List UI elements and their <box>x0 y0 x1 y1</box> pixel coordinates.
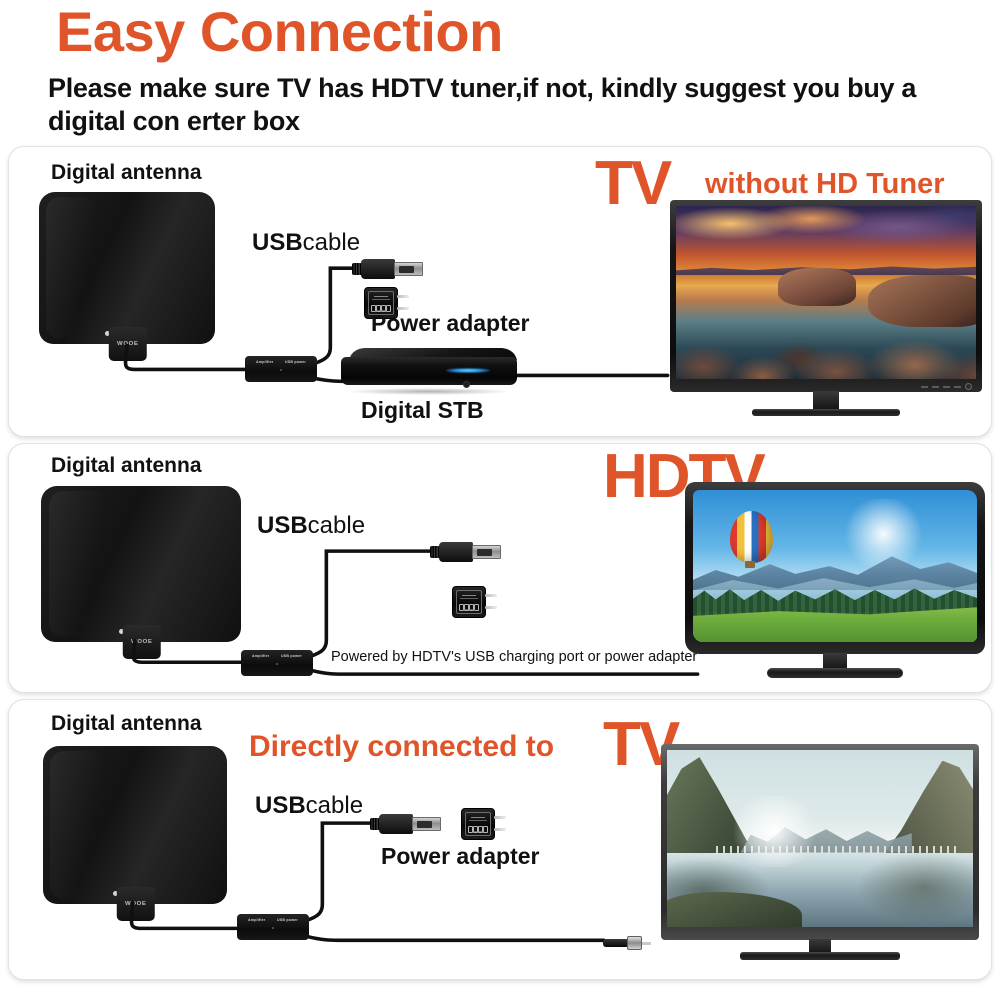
tv-stand-base <box>752 409 900 416</box>
usb-cable-label-1: USBcable <box>252 229 360 257</box>
antenna-brand-label: WOOE <box>117 341 138 346</box>
header: Easy Connection Please make sure TV has … <box>0 0 1000 142</box>
adapter-rating-label <box>465 812 491 836</box>
usb-plug-grip <box>379 814 413 834</box>
tv-screen <box>667 750 973 927</box>
digital-antenna-3: WOOE <box>43 746 227 904</box>
adapter-prong-top <box>494 816 506 819</box>
tv-screen <box>693 490 977 642</box>
antenna-label-1: Digital antenna <box>51 161 202 185</box>
signal-amplifier-2: Amplifier USB power <box>241 650 313 676</box>
usb-cable-label-bold: USB <box>252 229 303 256</box>
adapter-prong-bottom <box>485 606 497 609</box>
hot-air-balloon <box>730 511 773 563</box>
antenna-brand-label: WOOE <box>125 901 146 906</box>
power-source-note-2: Powered by HDTV's USB charging port or p… <box>331 649 697 665</box>
headline-rest-1: without HD Tuner <box>705 169 944 199</box>
coax-connector-3 <box>603 936 651 950</box>
stb-led-indicator <box>446 368 490 373</box>
usb-cable-label-thin: cable <box>303 229 360 256</box>
usb-plug-contact <box>412 817 441 831</box>
power-adapter-3 <box>461 808 505 840</box>
signal-amplifier-3: Amplifier USB power <box>237 914 309 940</box>
amp-label-left: Amplifier <box>256 360 273 364</box>
amp-indicator <box>280 369 282 371</box>
antenna-sheen <box>49 491 109 638</box>
adapter-rating-label <box>456 590 482 614</box>
usb-plug-grip <box>361 259 395 279</box>
usb-cable-label-thin: cable <box>306 792 363 819</box>
power-adapter-label-1: Power adapter <box>371 310 530 337</box>
diagram-panel-hdtv: Digital antenna WOOE USBcable Amplifier … <box>8 443 992 693</box>
amp-label-left: Amplifier <box>248 918 265 922</box>
antenna-brand-badge: WOOE <box>117 887 155 921</box>
usb-plug-1 <box>361 259 423 279</box>
coax-nut <box>627 936 642 950</box>
tv-control-row <box>921 384 972 389</box>
amp-label-left: Amplifier <box>252 654 269 658</box>
usb-plug-contact <box>472 545 501 559</box>
digital-stb-1 <box>341 344 517 390</box>
tv-stand-base <box>767 668 903 678</box>
digital-antenna-2: WOOE <box>41 486 241 642</box>
usb-cable-label-3: USBcable <box>255 792 363 820</box>
amp-indicator <box>272 927 274 929</box>
antenna-label-3: Digital antenna <box>51 712 202 736</box>
usb-plug-2 <box>439 542 501 562</box>
tv-screen-image-hot-air-balloon-mountains <box>693 490 977 642</box>
antenna-label-2: Digital antenna <box>51 454 202 478</box>
tv-hdtv-curved <box>685 482 985 654</box>
coax-pin <box>642 942 651 945</box>
adapter-body <box>461 808 495 840</box>
amp-label-right: USB power <box>281 654 302 658</box>
adapter-prong-bottom <box>494 828 506 831</box>
diagram-panel-direct-connection: Digital antenna WOOE Directly connected … <box>8 699 992 980</box>
usb-plug-contact <box>394 262 423 276</box>
adapter-prong-top <box>485 594 497 597</box>
antenna-brand-label: WOOE <box>131 639 152 644</box>
usb-cable-label-bold: USB <box>257 512 308 539</box>
antenna-brand-badge: WOOE <box>123 625 161 659</box>
antenna-sheen <box>50 751 105 900</box>
antenna-sheen <box>46 197 99 340</box>
tv-stand-base <box>740 952 900 960</box>
diagram-panel-without-hd-tuner: Digital antenna WOOE USBcable Amplifier … <box>8 146 992 437</box>
digital-antenna-1: WOOE <box>39 192 215 344</box>
amp-label-right: USB power <box>277 918 298 922</box>
page-title: Easy Connection <box>56 2 503 62</box>
stb-power-button <box>463 381 470 388</box>
tv-screen-image-sunset-lake-rocks <box>676 206 976 379</box>
usb-cable-label-thin: cable <box>308 512 365 539</box>
tv-screen <box>676 206 976 379</box>
stb-shadow <box>347 388 511 395</box>
tv-without-tuner <box>670 200 982 392</box>
usb-plug-3 <box>379 814 441 834</box>
balloon-basket <box>745 561 755 567</box>
usb-cable-label-2: USBcable <box>257 512 365 540</box>
coax-body <box>603 939 629 947</box>
page-subtitle: Please make sure TV has HDTV tuner,if no… <box>48 72 978 138</box>
power-adapter-label-3: Power adapter <box>381 843 540 870</box>
stb-front <box>341 357 517 385</box>
tv-stand-neck <box>813 391 839 410</box>
usb-cable-label-bold: USB <box>255 792 306 819</box>
tv-power-button[interactable] <box>965 383 972 390</box>
power-adapter-2 <box>452 586 496 618</box>
adapter-prong-top <box>397 295 409 298</box>
antenna-brand-badge: WOOE <box>109 327 147 361</box>
tv-screen-image-fjord-mountain-lake <box>667 750 973 927</box>
usb-plug-grip <box>439 542 473 562</box>
digital-stb-label-1: Digital STB <box>361 397 484 424</box>
amp-label-right: USB power <box>285 360 306 364</box>
amp-indicator <box>276 663 278 665</box>
tv-direct-connect <box>661 744 979 940</box>
signal-amplifier-1: Amplifier USB power <box>245 356 317 382</box>
adapter-body <box>452 586 486 618</box>
headline-rest-3: Directly connected to <box>249 732 554 762</box>
headline-big-1: TV <box>595 153 670 215</box>
